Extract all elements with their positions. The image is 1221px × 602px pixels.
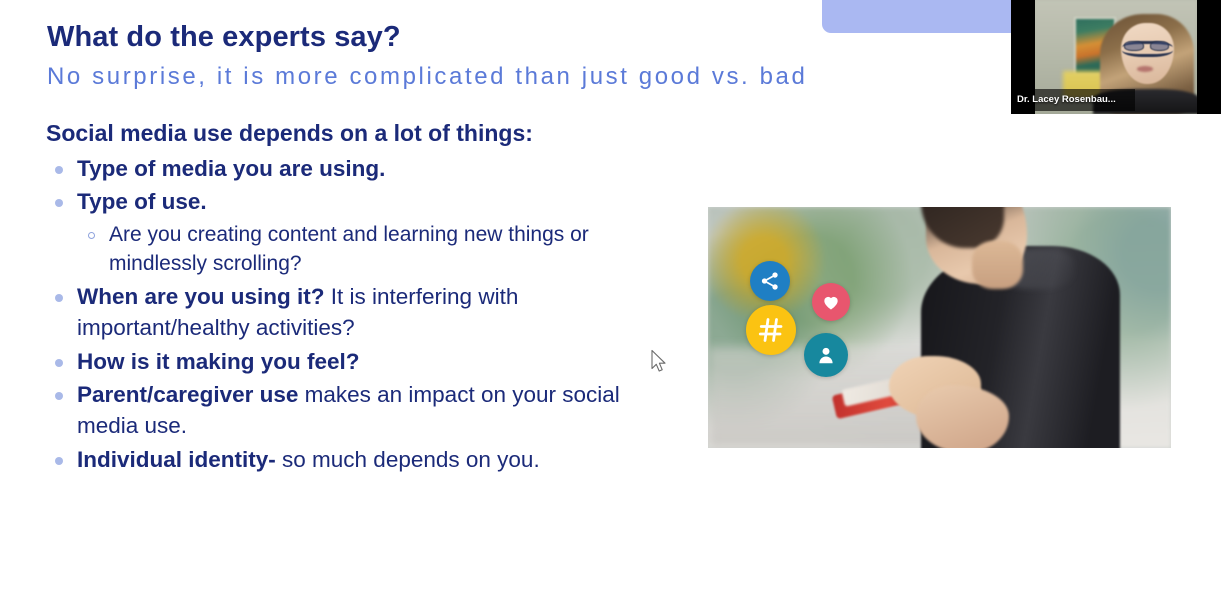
webcam-participant-mouth bbox=[1137, 66, 1153, 72]
list-item: When are you using it? It is interfering… bbox=[46, 282, 646, 344]
bullet-lead: Individual identity- bbox=[77, 447, 276, 472]
body-heading: Social media use depends on a lot of thi… bbox=[46, 120, 646, 148]
bullet-dot-icon bbox=[55, 457, 63, 465]
page-title: What do the experts say? bbox=[47, 22, 1007, 54]
sub-bullet-text: Are you creating content and learning ne… bbox=[109, 223, 589, 274]
bullet-dot-icon bbox=[55, 166, 63, 174]
share-icon bbox=[750, 261, 790, 301]
bullet-rest: so much depends on you. bbox=[276, 447, 540, 472]
bullet-dot-icon bbox=[55, 199, 63, 207]
page-subtitle: No surprise, it is more complicated than… bbox=[47, 62, 1007, 92]
mouse-cursor bbox=[650, 349, 668, 375]
slide-body: Social media use depends on a lot of thi… bbox=[46, 120, 646, 479]
bullet-lead: Type of media you are using. bbox=[77, 156, 385, 181]
person-icon bbox=[804, 333, 848, 377]
hashtag-icon bbox=[746, 305, 796, 355]
bullet-lead: How is it making you feel? bbox=[77, 349, 360, 374]
list-item: How is it making you feel? bbox=[46, 347, 646, 378]
bullet-dot-icon bbox=[55, 392, 63, 400]
photo-hand-lower bbox=[916, 385, 1009, 448]
hollow-bullet-icon bbox=[88, 232, 95, 239]
bullet-list: Type of media you are using. Type of use… bbox=[46, 154, 646, 476]
sub-list-item: Are you creating content and learning ne… bbox=[76, 221, 646, 278]
list-item: Type of media you are using. bbox=[46, 154, 646, 185]
presentation-slide: What do the experts say? No surprise, it… bbox=[0, 0, 1221, 602]
list-item: Parent/caregiver use makes an impact on … bbox=[46, 380, 646, 442]
webcam-glasses-right-lens bbox=[1150, 41, 1169, 51]
bullet-dot-icon bbox=[55, 294, 63, 302]
bullet-lead: Parent/caregiver use bbox=[77, 382, 298, 407]
bullet-lead: When are you using it? bbox=[77, 284, 325, 309]
webcam-participant-name: Dr. Lacey Rosenbau... bbox=[1017, 94, 1116, 105]
sub-bullet-list: Are you creating content and learning ne… bbox=[46, 221, 646, 278]
heart-icon bbox=[812, 283, 850, 321]
webcam-overlay[interactable]: Dr. Lacey Rosenbau... bbox=[1011, 0, 1221, 114]
slide-title-block: What do the experts say? No surprise, it… bbox=[47, 22, 1007, 92]
list-item: Individual identity- so much depends on … bbox=[46, 445, 646, 476]
bullet-dot-icon bbox=[55, 359, 63, 367]
webcam-glasses-left-lens bbox=[1124, 41, 1143, 51]
list-item: Type of use. bbox=[46, 187, 646, 218]
slide-photo bbox=[708, 207, 1171, 448]
photo-person-neck bbox=[972, 241, 1023, 289]
bullet-lead: Type of use. bbox=[77, 189, 207, 214]
